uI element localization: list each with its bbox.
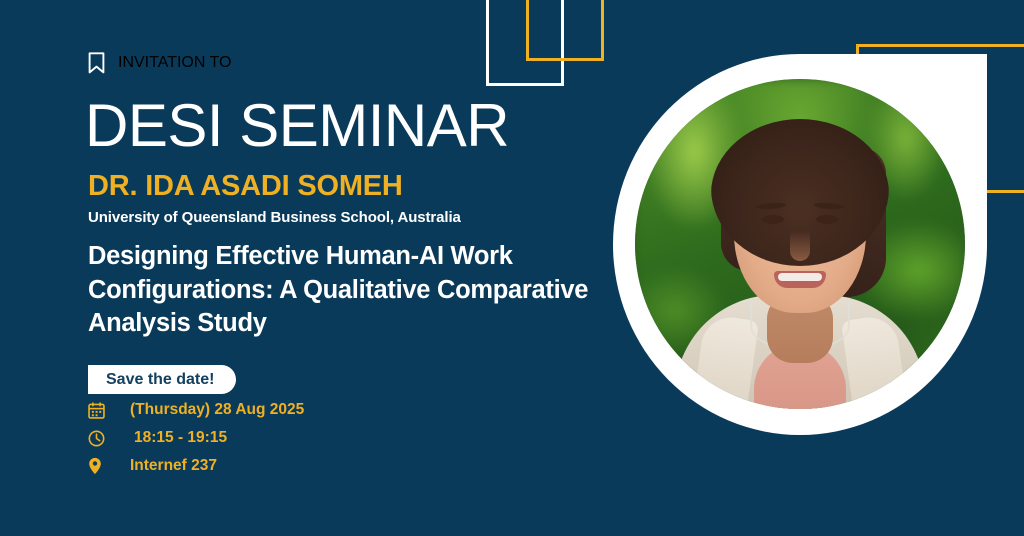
invitation-eyebrow: INVITATION TO xyxy=(88,52,232,74)
save-the-date-label: Save the date! xyxy=(106,371,214,389)
subject-mouth xyxy=(774,271,826,288)
clock-icon xyxy=(88,430,110,447)
talk-title: Designing Effective Human-AI Work Config… xyxy=(88,240,598,341)
subject-eye-left xyxy=(762,215,784,224)
subject-eye-right xyxy=(816,215,838,224)
page-title: DESI SEMINAR xyxy=(85,96,509,156)
speaker-name: DR. IDA ASADI SOMEH xyxy=(88,172,403,201)
location-pin-icon xyxy=(88,457,110,475)
calendar-icon xyxy=(88,402,110,419)
speaker-affiliation: University of Queensland Business School… xyxy=(88,209,461,226)
photo-circular-frame xyxy=(635,79,965,409)
event-details-list: (Thursday) 28 Aug 2025 18:15 - 19:15 xyxy=(88,400,304,476)
save-the-date-badge: Save the date! xyxy=(88,365,236,394)
subject-nose xyxy=(790,231,810,261)
event-location-row: Internef 237 xyxy=(88,456,304,476)
bookmark-icon xyxy=(88,52,105,74)
content-column: INVITATION TO DESI SEMINAR DR. IDA ASADI… xyxy=(88,0,608,536)
speaker-photo xyxy=(613,54,987,435)
event-location-label: Internef 237 xyxy=(130,457,217,475)
event-time-label: 18:15 - 19:15 xyxy=(134,429,227,447)
event-date-label: (Thursday) 28 Aug 2025 xyxy=(130,401,304,419)
subject-teeth xyxy=(778,273,822,281)
invitation-eyebrow-label: INVITATION TO xyxy=(118,54,232,72)
seminar-invitation-poster: INVITATION TO DESI SEMINAR DR. IDA ASADI… xyxy=(0,0,1024,536)
event-time-row: 18:15 - 19:15 xyxy=(88,428,304,448)
event-date-row: (Thursday) 28 Aug 2025 xyxy=(88,400,304,420)
